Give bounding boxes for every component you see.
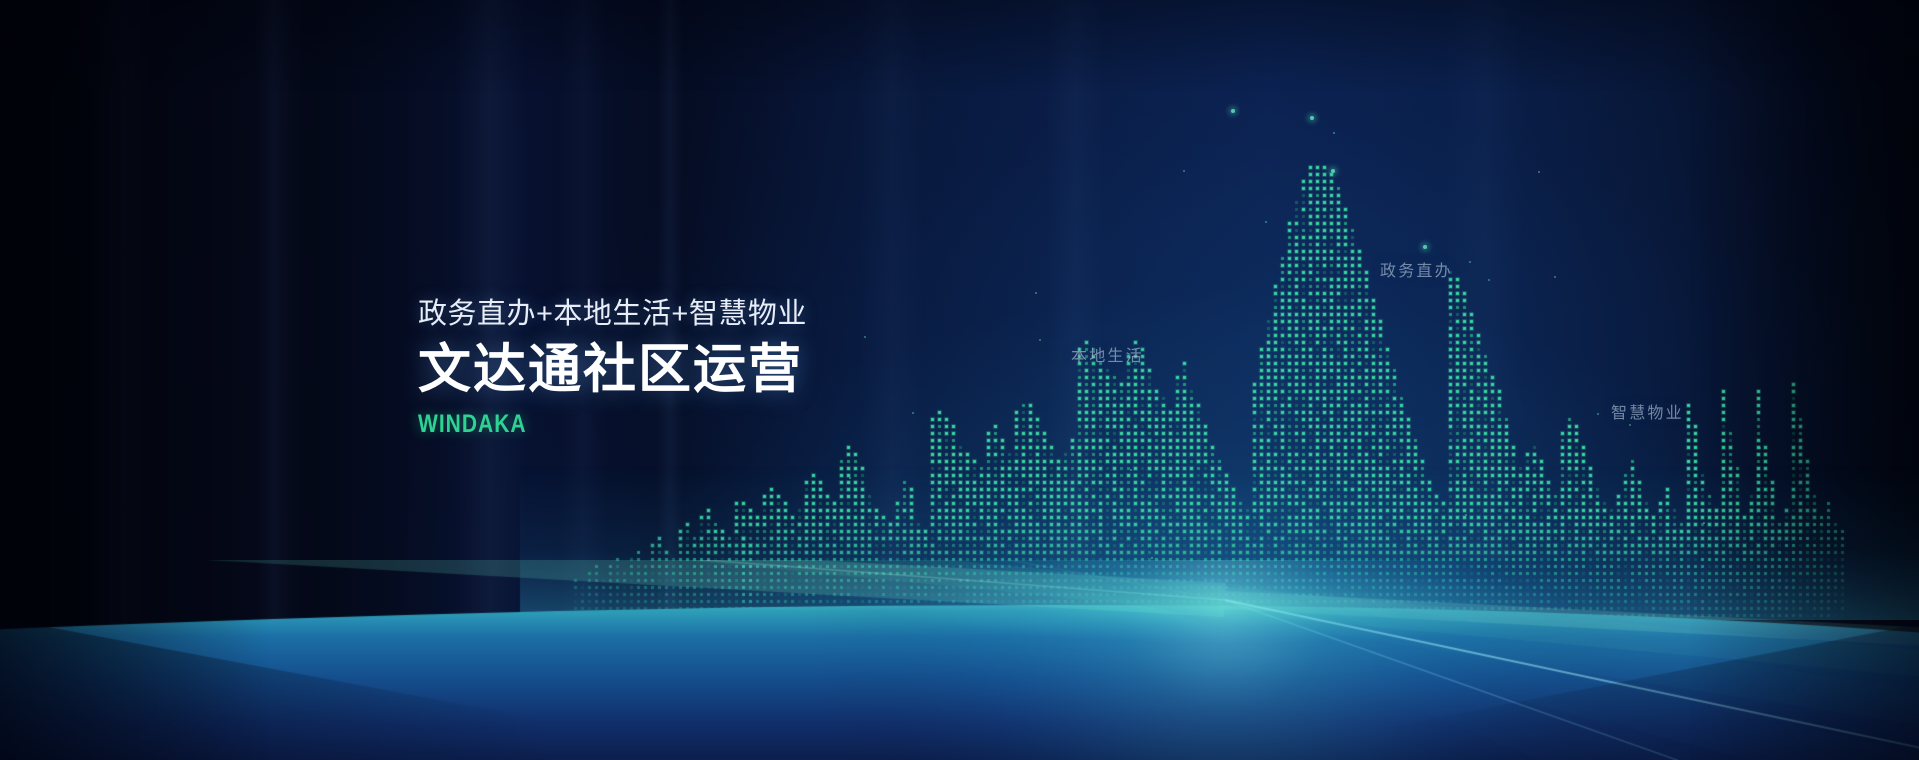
hero-banner: 政务直办+本地生活+智慧物业 文达通社区运营 WINDAKA 政务直办 本地生活… <box>0 0 1919 760</box>
perspective-ground-plane <box>0 560 1919 760</box>
brand-wordmark: WINDAKA <box>418 410 745 439</box>
sky-label-local-life: 本地生活 <box>1071 342 1144 366</box>
sky-label-government-services: 政务直办 <box>1380 257 1453 281</box>
dot-matrix-skyline <box>0 0 1919 620</box>
hero-tagline: 政务直办+本地生活+智慧物业 <box>418 296 807 332</box>
hero-text-block: 政务直办+本地生活+智慧物业 文达通社区运营 WINDAKA <box>418 296 807 439</box>
hero-title: 文达通社区运营 <box>418 340 807 399</box>
sky-label-smart-property: 智慧物业 <box>1611 399 1684 423</box>
